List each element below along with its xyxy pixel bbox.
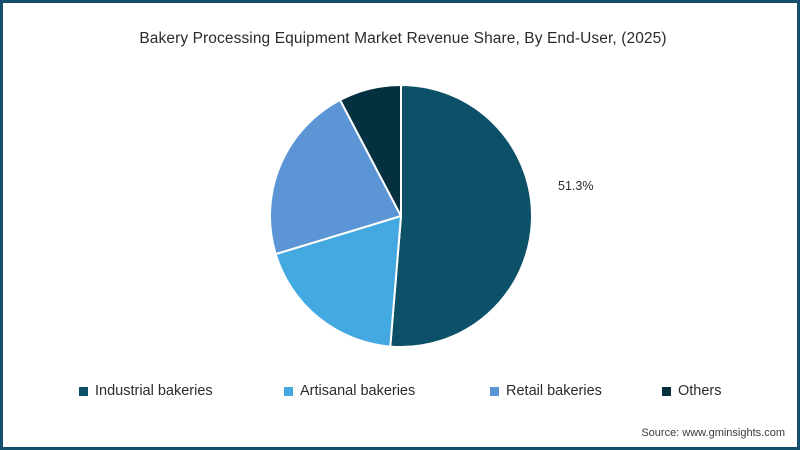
legend-item-artisanal-bakeries[interactable]: Artisanal bakeries [284,383,415,399]
legend-item-industrial-bakeries[interactable]: Industrial bakeries [79,383,213,399]
pie-chart [268,83,534,349]
legend-item-label: Artisanal bakeries [300,383,415,399]
legend-swatch-icon [284,387,293,396]
chart-card: Bakery Processing Equipment Market Reven… [0,0,800,450]
legend-swatch-icon [490,387,499,396]
legend-swatch-icon [662,387,671,396]
legend-item-others[interactable]: Others [662,383,722,399]
page-title: Bakery Processing Equipment Market Reven… [3,30,800,48]
data-label-industrial-bakeries: 51.3% [558,179,593,193]
legend-item-label: Others [678,383,722,399]
legend-item-retail-bakeries[interactable]: Retail bakeries [490,383,602,399]
source-attribution: Source: www.gminsights.com [641,427,785,439]
legend-swatch-icon [79,387,88,396]
pie-slice-group [270,85,532,347]
pie-slice[interactable] [390,85,532,347]
legend-item-label: Retail bakeries [506,383,602,399]
legend-item-label: Industrial bakeries [95,383,213,399]
legend: Industrial bakeries Artisanal bakeries R… [3,383,800,405]
pie-chart-svg [268,83,534,349]
